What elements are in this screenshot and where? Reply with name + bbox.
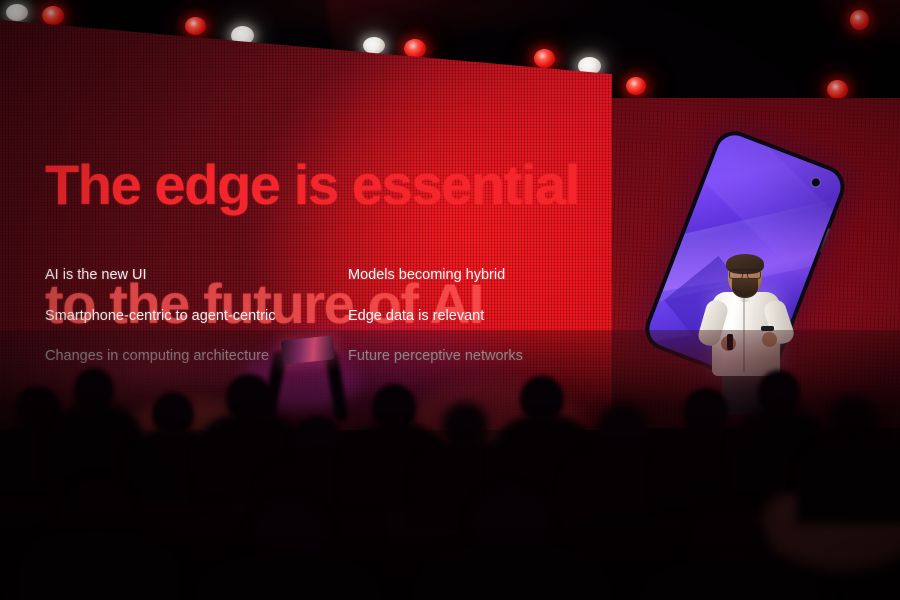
front-camera-icon bbox=[811, 177, 821, 187]
headline-line-1: The edge is essential bbox=[45, 153, 579, 216]
keynote-stage-photo: The edge is essential to the future of A… bbox=[0, 0, 900, 600]
audience-shoulders bbox=[796, 436, 900, 524]
bullet-item: Smartphone-centric to agent-centric bbox=[45, 309, 345, 324]
audience-silhouettes bbox=[0, 330, 900, 600]
presenter-beard bbox=[732, 278, 758, 298]
eyeglasses-icon bbox=[729, 269, 761, 277]
audience-shoulders bbox=[10, 530, 180, 600]
bullet-item: Edge data is relevant bbox=[348, 309, 608, 324]
bullet-item: AI is the new UI bbox=[45, 268, 345, 283]
bullet-item: Models becoming hybrid bbox=[348, 268, 608, 283]
